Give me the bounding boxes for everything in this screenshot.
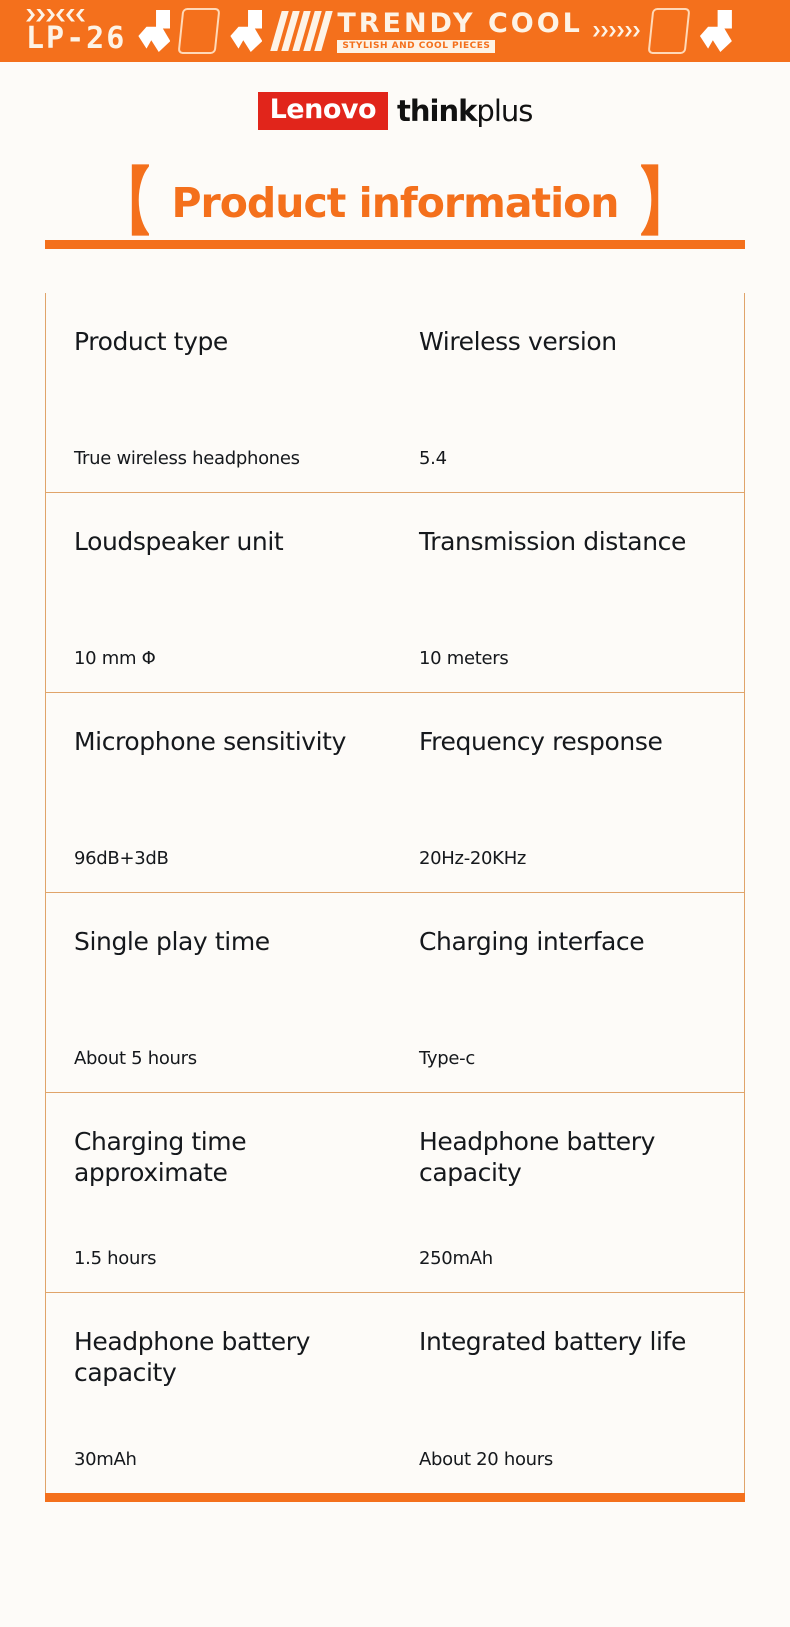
table-row: Loudspeaker unit 10 mm Φ Transmission di… <box>46 493 744 693</box>
arrow-hand-icon <box>698 10 732 52</box>
spec-cell: Integrated battery life About 20 hours <box>395 1293 744 1493</box>
chevron-left-icon <box>66 9 75 22</box>
spec-key: Loudspeaker unit <box>74 527 369 558</box>
bracket-right-icon: 】 <box>640 166 692 240</box>
table-row: Microphone sensitivity 96dB+3dB Frequenc… <box>46 693 744 893</box>
model-code-block: LP-26 <box>26 8 126 54</box>
spec-value: About 5 hours <box>74 1048 369 1070</box>
spec-value: True wireless headphones <box>74 448 369 470</box>
banner-tagline: STYLISH AND COOL PIECES <box>337 40 495 53</box>
spec-key: Charging interface <box>419 927 718 958</box>
spec-cell: Charging interface Type-c <box>395 893 744 1092</box>
spec-key: Headphone battery capacity <box>419 1127 718 1188</box>
spec-cell: Frequency response 20Hz-20KHz <box>395 693 744 892</box>
spec-cell: Transmission distance 10 meters <box>395 493 744 692</box>
chevron-right-icon <box>625 26 632 37</box>
thinkplus-light-part: plus <box>476 94 532 128</box>
spec-cell: Charging time approximate 1.5 hours <box>46 1093 395 1292</box>
spec-value: About 20 hours <box>419 1449 718 1471</box>
chevron-right-icon <box>593 26 600 37</box>
chevron-right-icon <box>617 26 624 37</box>
promo-banner: LP-26 TRENDY COOL STYLISH AND COOL PIECE… <box>0 0 790 62</box>
chevron-right-icon <box>36 9 45 22</box>
spec-key: Headphone battery capacity <box>74 1327 369 1388</box>
brand-logo: Lenovo thinkplus <box>0 90 790 132</box>
banner-headline-block: TRENDY COOL STYLISH AND COOL PIECES <box>337 10 583 53</box>
page-title: 【 Product information 】 <box>0 166 790 240</box>
chevron-left-icon <box>56 9 65 22</box>
spec-key: Integrated battery life <box>419 1327 718 1358</box>
spec-key: Product type <box>74 327 369 358</box>
arrow-hand-icon <box>136 10 170 52</box>
table-row: Single play time About 5 hours Charging … <box>46 893 744 1093</box>
page-title-label: Product information <box>171 183 618 224</box>
spec-value: Type-c <box>419 1048 718 1070</box>
table-row: Product type True wireless headphones Wi… <box>46 293 744 493</box>
spec-value: 30mAh <box>74 1449 369 1471</box>
bracket-left-icon: 【 <box>99 166 151 240</box>
arrow-hand-outline-icon <box>647 8 690 54</box>
arrow-hand-outline-icon <box>178 8 221 54</box>
spec-cell: Headphone battery capacity 30mAh <box>46 1293 395 1493</box>
spec-value: 1.5 hours <box>74 1248 369 1270</box>
chevron-ornament-right <box>593 24 640 38</box>
spec-value: 20Hz-20KHz <box>419 848 718 870</box>
diagonal-stripes-ornament <box>276 11 327 51</box>
chevron-right-icon <box>26 9 35 22</box>
chevron-right-icon <box>609 26 616 37</box>
spec-cell: Product type True wireless headphones <box>46 293 395 492</box>
spec-value: 250mAh <box>419 1248 718 1270</box>
spec-key: Charging time approximate <box>74 1127 369 1188</box>
spec-value: 5.4 <box>419 448 718 470</box>
spec-cell: Wireless version 5.4 <box>395 293 744 492</box>
chevron-left-icon <box>76 9 85 22</box>
spec-value: 10 mm Φ <box>74 648 369 670</box>
thinkplus-bold-part: think <box>397 94 476 128</box>
table-row: Charging time approximate 1.5 hours Head… <box>46 1093 744 1293</box>
spec-cell: Loudspeaker unit 10 mm Φ <box>46 493 395 692</box>
model-code-label: LP-26 <box>26 24 126 54</box>
chevron-right-icon <box>633 26 640 37</box>
table-row: Headphone battery capacity 30mAh Integra… <box>46 1293 744 1493</box>
table-bottom-accent-bar <box>45 1493 745 1502</box>
banner-headline: TRENDY COOL <box>337 10 583 37</box>
spec-key: Frequency response <box>419 727 718 758</box>
spec-key: Microphone sensitivity <box>74 727 369 758</box>
spec-value: 96dB+3dB <box>74 848 369 870</box>
spec-cell: Single play time About 5 hours <box>46 893 395 1092</box>
spec-cell: Microphone sensitivity 96dB+3dB <box>46 693 395 892</box>
thinkplus-wordmark: thinkplus <box>397 97 532 126</box>
lenovo-wordmark: Lenovo <box>258 92 388 130</box>
chevron-right-icon <box>601 26 608 37</box>
spec-value: 10 meters <box>419 648 718 670</box>
chevron-ornament-left <box>26 8 126 22</box>
arrow-hand-icon <box>228 10 262 52</box>
spec-table: Product type True wireless headphones Wi… <box>45 293 745 1493</box>
spec-cell: Headphone battery capacity 250mAh <box>395 1093 744 1292</box>
spec-key: Wireless version <box>419 327 718 358</box>
spec-key: Single play time <box>74 927 369 958</box>
chevron-right-icon <box>46 9 55 22</box>
spec-key: Transmission distance <box>419 527 718 558</box>
